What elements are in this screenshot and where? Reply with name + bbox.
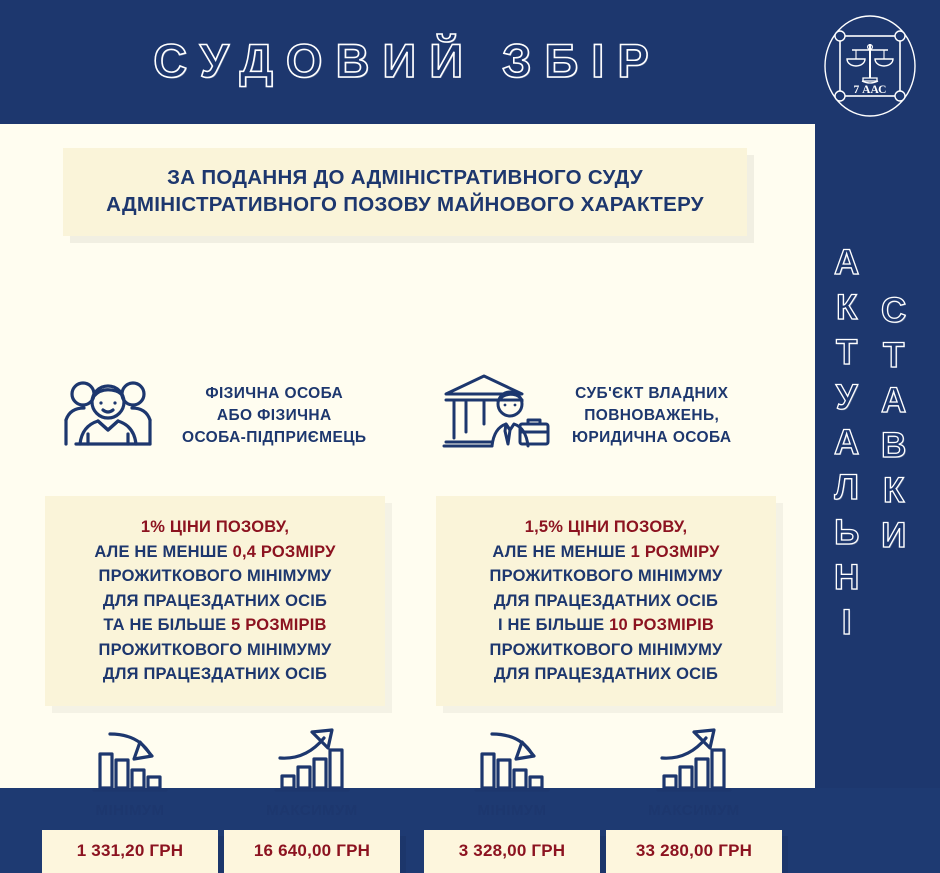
party-natural-person: ФІЗИЧНА ОСОБА АБО ФІЗИЧНА ОСОБА-ПІДПРИЄМ… bbox=[58, 372, 366, 459]
sidebar-letter: У bbox=[836, 375, 858, 420]
sidebar-letter: Н bbox=[834, 555, 859, 600]
formula-text: ДЛЯ ПРАЦЕЗДАТНИХ ОСІБ bbox=[494, 592, 718, 610]
sidebar-letter: І bbox=[842, 600, 852, 645]
formula-text: ПРОЖИТКОВОГО МІНІМУМУ bbox=[99, 641, 332, 659]
banner-line-2: АДМІНІСТРАТИВНОГО ПОЗОВУ МАЙНОВОГО ХАРАК… bbox=[73, 191, 737, 218]
stat-label: МАКСИМУМ bbox=[606, 802, 782, 819]
stat-label: МІНІМУМ bbox=[424, 802, 600, 819]
stat-value: 16 640,00 ГРН bbox=[224, 830, 400, 873]
header-bar: СУДОВИЙ ЗБІР bbox=[0, 0, 940, 124]
formula-line: І НЕ БІЛЬШЕ 10 РОЗМІРІВ bbox=[498, 613, 714, 638]
formula-text: ДЛЯ ПРАЦЕЗДАТНИХ ОСІБ bbox=[103, 592, 327, 610]
sidebar-letter: А bbox=[834, 240, 859, 285]
formula-line: ДЛЯ ПРАЦЕЗДАТНИХ ОСІБ bbox=[494, 662, 718, 687]
party-label: ФІЗИЧНА ОСОБА АБО ФІЗИЧНА ОСОБА-ПІДПРИЄМ… bbox=[182, 383, 366, 449]
government-building-businessman-icon bbox=[440, 372, 556, 459]
formula-text: І НЕ БІЛЬШЕ bbox=[498, 616, 609, 634]
formula-line: ПРОЖИТКОВОГО МІНІМУМУ bbox=[99, 638, 332, 663]
stat-max-natural-person: МАКСИМУМ 16 640,00 ГРН bbox=[224, 724, 400, 873]
stat-value: 33 280,00 ГРН bbox=[606, 830, 782, 873]
formula-line: ДЛЯ ПРАЦЕЗДАТНИХ ОСІБ bbox=[103, 589, 327, 614]
formula-text: ПРОЖИТКОВОГО МІНІМУМУ bbox=[490, 641, 723, 659]
stat-label: МІНІМУМ bbox=[42, 802, 218, 819]
infographic-page: СУДОВИЙ ЗБІР 7 ААС bbox=[0, 0, 940, 788]
stat-value: 3 328,00 ГРН bbox=[424, 830, 600, 873]
sidebar-letter: Л bbox=[834, 465, 859, 510]
sidebar-word-aktualni: АКТУАЛЬНІ bbox=[834, 240, 859, 645]
formula-highlight: 10 РОЗМІРІВ bbox=[609, 616, 714, 634]
logo-caption: 7 ААС bbox=[854, 84, 887, 96]
formula-text: ДЛЯ ПРАЦЕЗДАТНИХ ОСІБ bbox=[494, 665, 718, 683]
formula-line: АЛЕ НЕ МЕНШЕ 0,4 РОЗМІРУ bbox=[94, 540, 335, 565]
group-of-people-icon bbox=[58, 372, 166, 459]
stat-value: 1 331,20 ГРН bbox=[42, 830, 218, 873]
sidebar-letter: К bbox=[883, 468, 904, 513]
formula-line: ПРОЖИТКОВОГО МІНІМУМУ bbox=[490, 638, 723, 663]
formula-highlight: 5 РОЗМІРІВ bbox=[231, 616, 327, 634]
court-logo: 7 ААС bbox=[818, 14, 922, 118]
formula-text: ПРОЖИТКОВОГО МІНІМУМУ bbox=[99, 567, 332, 585]
formula-highlight: 0,4 РОЗМІРУ bbox=[233, 543, 336, 561]
fee-formula-natural-person: 1% ЦІНИ ПОЗОВУ,АЛЕ НЕ МЕНШЕ 0,4 РОЗМІРУП… bbox=[45, 496, 385, 706]
formula-text: АЛЕ НЕ МЕНШЕ bbox=[492, 543, 630, 561]
sidebar-letter: А bbox=[881, 378, 906, 423]
stat-min-public-authority: МІНІМУМ 3 328,00 ГРН bbox=[424, 724, 600, 873]
sidebar-letter: К bbox=[836, 285, 857, 330]
sidebar-letter: В bbox=[881, 423, 906, 468]
party-label: СУБ'ЄКТ ВЛАДНИХ ПОВНОВАЖЕНЬ, ЮРИДИЧНА ОС… bbox=[572, 383, 732, 449]
fee-formula-public-authority: 1,5% ЦІНИ ПОЗОВУ,АЛЕ НЕ МЕНШЕ 1 РОЗМІРУП… bbox=[436, 496, 776, 706]
formula-text: ПРОЖИТКОВОГО МІНІМУМУ bbox=[490, 567, 723, 585]
formula-text: АЛЕ НЕ МЕНШЕ bbox=[94, 543, 232, 561]
formula-line: ДЛЯ ПРАЦЕЗДАТНИХ ОСІБ bbox=[103, 662, 327, 687]
party-public-authority: СУБ'ЄКТ ВЛАДНИХ ПОВНОВАЖЕНЬ, ЮРИДИЧНА ОС… bbox=[440, 372, 732, 459]
banner-line-1: ЗА ПОДАННЯ ДО АДМІНІСТРАТИВНОГО СУДУ bbox=[73, 164, 737, 191]
formula-line: ДЛЯ ПРАЦЕЗДАТНИХ ОСІБ bbox=[494, 589, 718, 614]
formula-text: ДЛЯ ПРАЦЕЗДАТНИХ ОСІБ bbox=[103, 665, 327, 683]
sidebar-letter: Ь bbox=[834, 510, 859, 555]
sidebar-letter: А bbox=[834, 420, 859, 465]
formula-line: 1,5% ЦІНИ ПОЗОВУ, bbox=[525, 515, 688, 540]
formula-highlight: 1% ЦІНИ ПОЗОВУ, bbox=[141, 518, 289, 536]
stat-max-public-authority: МАКСИМУМ 33 280,00 ГРН bbox=[606, 724, 782, 873]
formula-line: 1% ЦІНИ ПОЗОВУ, bbox=[141, 515, 289, 540]
sidebar-letter: И bbox=[881, 513, 906, 558]
decreasing-bar-chart-icon bbox=[42, 724, 218, 796]
content-panel: ЗА ПОДАННЯ ДО АДМІНІСТРАТИВНОГО СУДУ АДМ… bbox=[0, 124, 815, 788]
stat-min-natural-person: МІНІМУМ 1 331,20 ГРН bbox=[42, 724, 218, 873]
stat-label: МАКСИМУМ bbox=[224, 802, 400, 819]
sidebar-letter: Т bbox=[836, 330, 857, 375]
formula-line: АЛЕ НЕ МЕНШЕ 1 РОЗМІРУ bbox=[492, 540, 719, 565]
sidebar-word-stavky: СТАВКИ bbox=[881, 288, 906, 558]
increasing-bar-chart-icon bbox=[606, 724, 782, 796]
sidebar-letter: С bbox=[881, 288, 906, 333]
formula-highlight: 1 РОЗМІРУ bbox=[631, 543, 720, 561]
decreasing-bar-chart-icon bbox=[424, 724, 600, 796]
scales-of-justice-icon: 7 ААС bbox=[818, 14, 922, 118]
formula-line: ТА НЕ БІЛЬШЕ 5 РОЗМІРІВ bbox=[103, 613, 326, 638]
formula-text: ТА НЕ БІЛЬШЕ bbox=[103, 616, 231, 634]
formula-line: ПРОЖИТКОВОГО МІНІМУМУ bbox=[490, 564, 723, 589]
increasing-bar-chart-icon bbox=[224, 724, 400, 796]
sidebar-letter: Т bbox=[883, 333, 904, 378]
formula-highlight: 1,5% ЦІНИ ПОЗОВУ, bbox=[525, 518, 688, 536]
page-title: СУДОВИЙ ЗБІР bbox=[0, 28, 815, 94]
formula-line: ПРОЖИТКОВОГО МІНІМУМУ bbox=[99, 564, 332, 589]
subject-banner: ЗА ПОДАННЯ ДО АДМІНІСТРАТИВНОГО СУДУ АДМ… bbox=[63, 148, 747, 236]
